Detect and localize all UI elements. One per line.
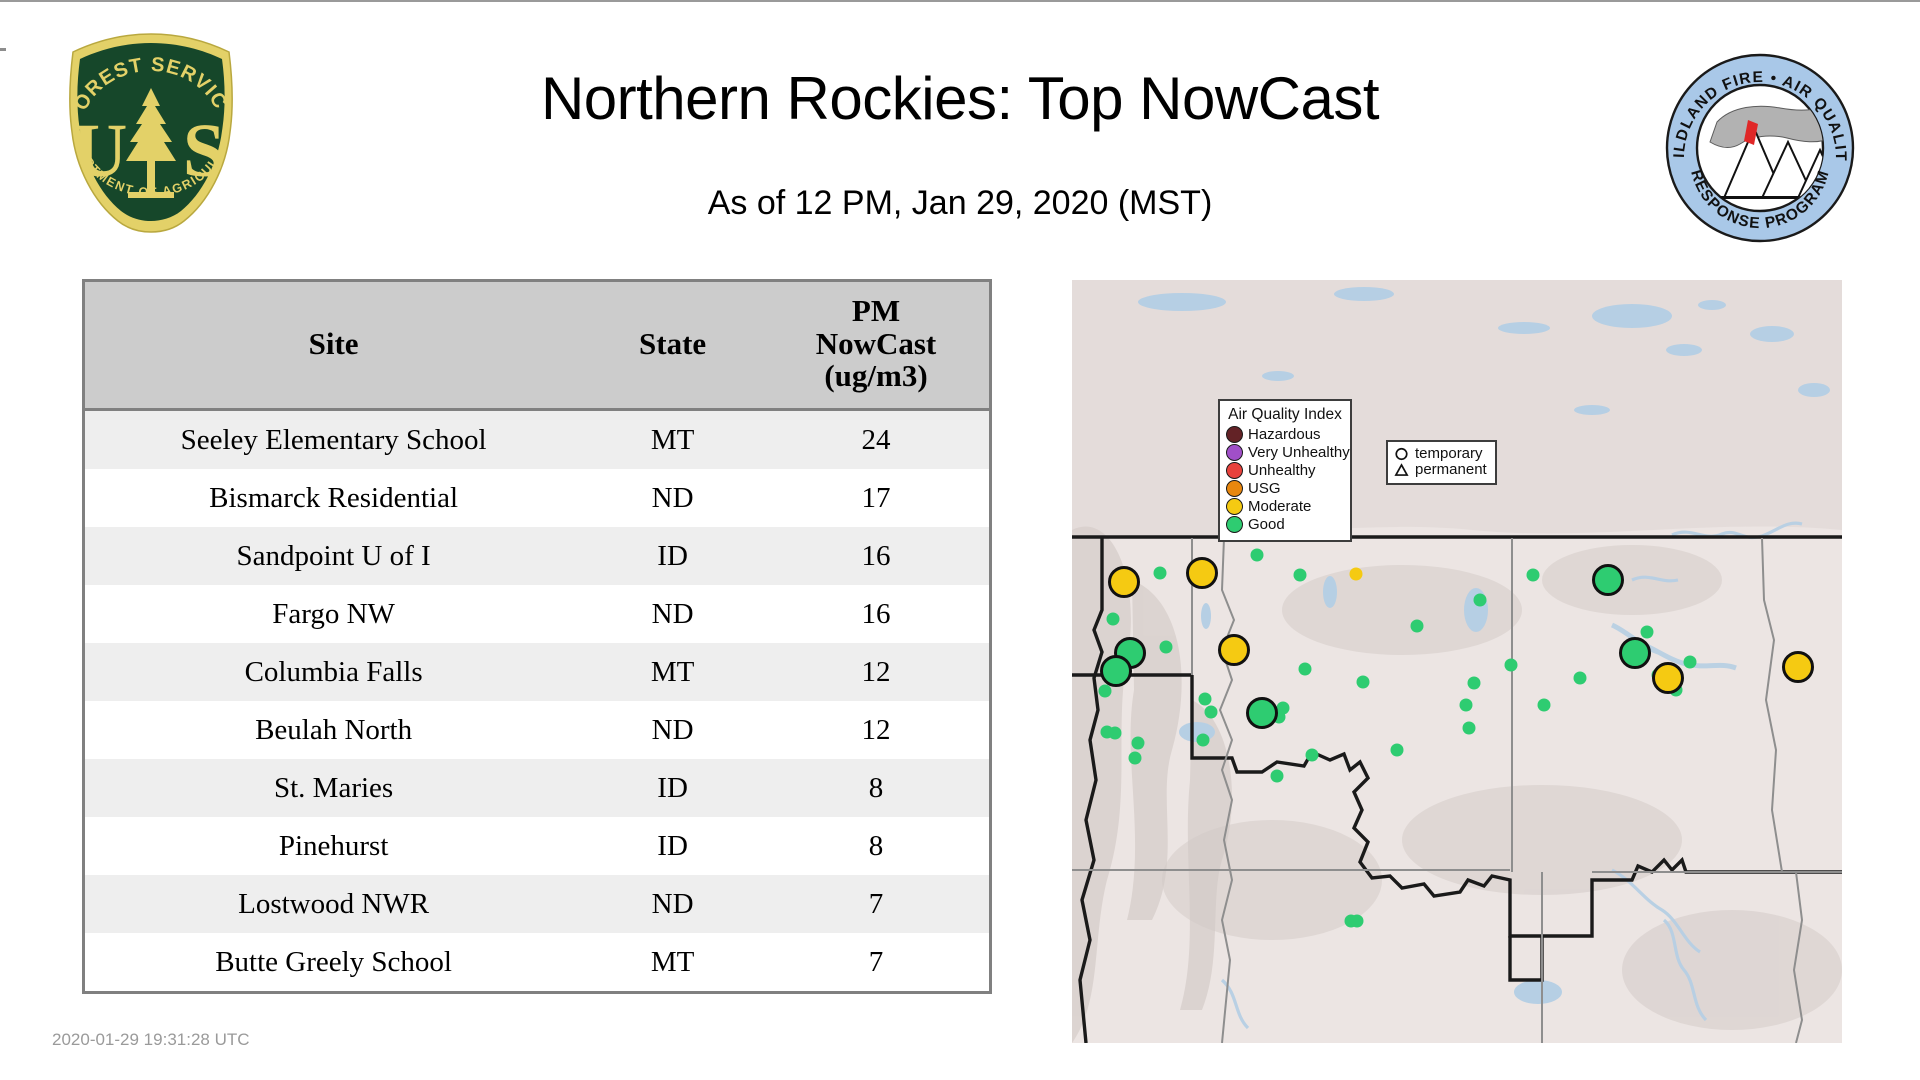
aqi-legend-row: Very Unhealthy <box>1226 444 1344 461</box>
aqi-legend-label: Very Unhealthy <box>1248 445 1350 460</box>
map-top-site-marker[interactable] <box>1652 662 1684 694</box>
us-forest-service-logo: FOREST SERVICE DEPARTMENT OF AGRICULTURE… <box>56 30 246 235</box>
table-row: Beulah NorthND12 <box>85 701 989 759</box>
map-monitor-marker[interactable] <box>1132 737 1145 750</box>
pm-nowcast-cell: 7 <box>763 875 989 933</box>
aqi-legend-label: Good <box>1248 517 1285 532</box>
pm-nowcast-cell: 12 <box>763 643 989 701</box>
aqi-legend-label: Hazardous <box>1248 427 1321 442</box>
site-cell: Lostwood NWR <box>85 875 582 933</box>
site-cell: Columbia Falls <box>85 643 582 701</box>
aqi-legend-label: Moderate <box>1248 499 1311 514</box>
aqi-legend-row: Unhealthy <box>1226 462 1344 479</box>
aqi-legend-title: Air Quality Index <box>1226 406 1344 424</box>
page-subtitle: As of 12 PM, Jan 29, 2020 (MST) <box>300 184 1620 223</box>
table-row: Seeley Elementary SchoolMT24 <box>85 410 989 470</box>
table-row: Lostwood NWRND7 <box>85 875 989 933</box>
column-header-pm-nowcast: PM NowCast (ug/m3) <box>763 282 989 410</box>
site-cell: Pinehurst <box>85 817 582 875</box>
map-monitor-marker[interactable] <box>1351 915 1364 928</box>
map-monitor-marker[interactable] <box>1391 744 1404 757</box>
pm-nowcast-cell: 12 <box>763 701 989 759</box>
map-monitor-marker[interactable] <box>1271 770 1284 783</box>
map-top-site-marker[interactable] <box>1218 634 1250 666</box>
aqi-legend-row: Hazardous <box>1226 426 1344 443</box>
table-row: St. MariesID8 <box>85 759 989 817</box>
map-monitor-marker[interactable] <box>1306 749 1319 762</box>
legend-temporary-row: temporary <box>1394 446 1487 462</box>
map-top-site-marker[interactable] <box>1619 637 1651 669</box>
generated-timestamp: 2020-01-29 19:31:28 UTC <box>52 1030 250 1050</box>
map-monitor-marker[interactable] <box>1468 677 1481 690</box>
site-cell: Seeley Elementary School <box>85 410 582 470</box>
map-monitor-marker[interactable] <box>1099 685 1112 698</box>
table-row: PinehurstID8 <box>85 817 989 875</box>
terrain-basemap <box>1072 280 1842 1043</box>
table-row: Fargo NWND16 <box>85 585 989 643</box>
state-cell: ID <box>582 759 763 817</box>
site-cell: Beulah North <box>85 701 582 759</box>
state-cell: ID <box>582 817 763 875</box>
edge-tick <box>0 48 6 51</box>
aqi-legend-label: Unhealthy <box>1248 463 1316 478</box>
site-cell: Butte Greely School <box>85 933 582 991</box>
map-top-site-marker[interactable] <box>1100 655 1132 687</box>
map-monitor-marker[interactable] <box>1160 641 1173 654</box>
pm-nowcast-cell: 16 <box>763 585 989 643</box>
state-cell: MT <box>582 410 763 470</box>
state-cell: ND <box>582 875 763 933</box>
map-monitor-marker[interactable] <box>1641 626 1654 639</box>
map-monitor-marker[interactable] <box>1463 722 1476 735</box>
pm-nowcast-cell: 17 <box>763 469 989 527</box>
map-top-site-marker[interactable] <box>1186 557 1218 589</box>
map-top-site-marker[interactable] <box>1592 564 1624 596</box>
aqi-color-swatch-icon <box>1226 426 1243 443</box>
column-header-pm-line1: PM <box>763 295 989 328</box>
map-monitor-marker[interactable] <box>1199 693 1212 706</box>
aqi-legend-items: HazardousVery UnhealthyUnhealthyUSGModer… <box>1226 426 1344 533</box>
wildland-fire-air-quality-logo: WILDLAND FIRE • AIR QUALITY RESPONSE PRO… <box>1662 50 1858 246</box>
svg-text:U: U <box>73 109 128 193</box>
map-monitor-marker[interactable] <box>1251 549 1264 562</box>
map-monitor-marker[interactable] <box>1109 727 1122 740</box>
column-header-state: State <box>582 282 763 410</box>
table-row: Sandpoint U of IID16 <box>85 527 989 585</box>
map-monitor-marker[interactable] <box>1277 702 1290 715</box>
aqi-color-swatch-icon <box>1226 462 1243 479</box>
map-monitor-marker[interactable] <box>1574 672 1587 685</box>
aqi-color-swatch-icon <box>1226 498 1243 515</box>
map-monitor-marker[interactable] <box>1474 594 1487 607</box>
page-title: Northern Rockies: Top NowCast <box>300 64 1620 133</box>
air-quality-map[interactable] <box>1072 280 1842 1043</box>
map-top-site-marker[interactable] <box>1108 566 1140 598</box>
column-header-site: Site <box>85 282 582 410</box>
map-monitor-marker[interactable] <box>1154 567 1167 580</box>
state-cell: ID <box>582 527 763 585</box>
legend-temporary-label: temporary <box>1415 446 1483 462</box>
circle-icon <box>1394 446 1409 462</box>
table-row: Columbia FallsMT12 <box>85 643 989 701</box>
map-monitor-marker[interactable] <box>1538 699 1551 712</box>
triangle-icon <box>1394 462 1409 478</box>
pm-nowcast-cell: 8 <box>763 817 989 875</box>
map-monitor-marker[interactable] <box>1460 699 1473 712</box>
map-monitor-marker[interactable] <box>1205 706 1218 719</box>
table-row: Bismarck ResidentialND17 <box>85 469 989 527</box>
pm-nowcast-cell: 8 <box>763 759 989 817</box>
map-top-site-marker[interactable] <box>1782 651 1814 683</box>
map-monitor-marker[interactable] <box>1684 656 1697 669</box>
aqi-legend-row: Good <box>1226 516 1344 533</box>
site-cell: Sandpoint U of I <box>85 527 582 585</box>
state-cell: ND <box>582 585 763 643</box>
top-nowcast-table: Site State PM NowCast (ug/m3) Seeley Ele… <box>82 279 992 994</box>
pm-nowcast-cell: 16 <box>763 527 989 585</box>
map-monitor-marker[interactable] <box>1197 734 1210 747</box>
state-cell: MT <box>582 643 763 701</box>
site-cell: St. Maries <box>85 759 582 817</box>
svg-text:S: S <box>183 109 225 193</box>
state-cell: ND <box>582 701 763 759</box>
site-cell: Fargo NW <box>85 585 582 643</box>
aqi-legend-row: USG <box>1226 480 1344 497</box>
map-monitor-marker[interactable] <box>1411 620 1424 633</box>
aqi-color-swatch-icon <box>1226 444 1243 461</box>
map-monitor-marker[interactable] <box>1107 613 1120 626</box>
aqi-legend: Air Quality Index HazardousVery Unhealth… <box>1218 399 1352 542</box>
map-monitor-marker[interactable] <box>1129 752 1142 765</box>
site-cell: Bismarck Residential <box>85 469 582 527</box>
aqi-legend-label: USG <box>1248 481 1281 496</box>
table-row: Butte Greely SchoolMT7 <box>85 933 989 991</box>
legend-permanent-label: permanent <box>1415 462 1487 478</box>
map-top-site-marker[interactable] <box>1246 697 1278 729</box>
table-body: Seeley Elementary SchoolMT24Bismarck Res… <box>85 410 989 992</box>
map-monitor-marker[interactable] <box>1505 659 1518 672</box>
state-cell: ND <box>582 469 763 527</box>
pm-nowcast-cell: 7 <box>763 933 989 991</box>
pm-nowcast-cell: 24 <box>763 410 989 470</box>
aqi-color-swatch-icon <box>1226 516 1243 533</box>
map-monitor-marker[interactable] <box>1527 569 1540 582</box>
map-monitor-marker[interactable] <box>1350 568 1363 581</box>
table-header-row: Site State PM NowCast (ug/m3) <box>85 282 989 410</box>
monitor-type-legend: temporary permanent <box>1386 440 1497 485</box>
state-cell: MT <box>582 933 763 991</box>
map-monitor-marker[interactable] <box>1299 663 1312 676</box>
map-monitor-marker[interactable] <box>1357 676 1370 689</box>
legend-permanent-row: permanent <box>1394 462 1487 478</box>
map-monitor-marker[interactable] <box>1294 569 1307 582</box>
column-header-pm-line3: (ug/m3) <box>763 360 989 393</box>
aqi-color-swatch-icon <box>1226 480 1243 497</box>
aqi-legend-row: Moderate <box>1226 498 1344 515</box>
column-header-pm-line2: NowCast <box>763 328 989 361</box>
